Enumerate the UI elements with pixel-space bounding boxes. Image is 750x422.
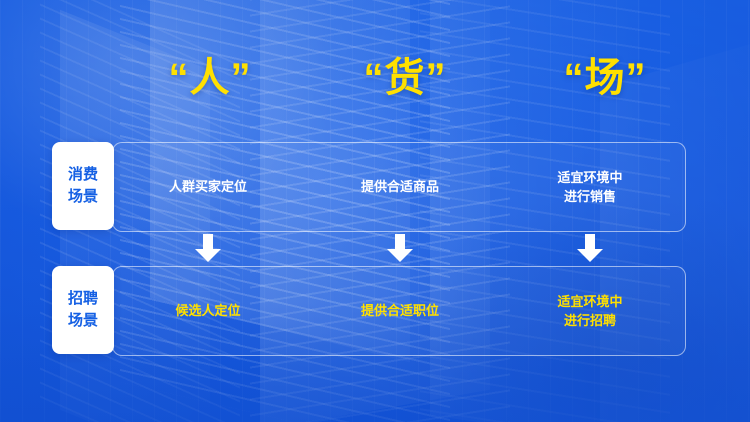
column-headings: “人” “货” “场” bbox=[0, 52, 750, 112]
cell-recruitment-chang: 适宜环境中 进行招聘 bbox=[500, 292, 680, 330]
heading-huo: “货” bbox=[325, 52, 485, 104]
row-tag-recruitment-line1: 招聘 bbox=[66, 288, 100, 310]
down-arrow-icon-chang bbox=[577, 234, 603, 262]
row-tag-recruitment: 招聘 场景 bbox=[52, 266, 114, 354]
down-arrow-icon-huo bbox=[387, 234, 413, 262]
cell-recruitment-chang-line1: 适宜环境中 bbox=[500, 292, 680, 311]
row-tag-consumption: 消费 场景 bbox=[52, 142, 114, 230]
arrow-head bbox=[195, 249, 221, 262]
row-tag-consumption-line2: 场景 bbox=[66, 186, 100, 208]
slide-canvas: “人” “货” “场” 消费 场景 招聘 场景 人群买家定位 提供合适商品 适宜… bbox=[0, 0, 750, 422]
cell-consumption-chang: 适宜环境中 进行销售 bbox=[500, 168, 680, 206]
arrow-head bbox=[387, 249, 413, 262]
cell-consumption-ren: 人群买家定位 bbox=[118, 177, 298, 196]
heading-ren: “人” bbox=[120, 52, 300, 104]
arrow-head bbox=[577, 249, 603, 262]
cell-consumption-chang-line1: 适宜环境中 bbox=[500, 168, 680, 187]
cell-consumption-chang-line2: 进行销售 bbox=[500, 187, 680, 206]
diagram-content: “人” “货” “场” 消费 场景 招聘 场景 人群买家定位 提供合适商品 适宜… bbox=[0, 0, 750, 422]
cell-recruitment-ren: 候选人定位 bbox=[118, 301, 298, 320]
heading-chang: “场” bbox=[520, 52, 690, 104]
cell-recruitment-huo: 提供合适职位 bbox=[310, 301, 490, 320]
arrow-shaft bbox=[203, 234, 213, 250]
cell-consumption-huo: 提供合适商品 bbox=[310, 177, 490, 196]
row-tag-recruitment-line2: 场景 bbox=[66, 310, 100, 332]
arrow-shaft bbox=[585, 234, 595, 250]
cell-recruitment-chang-line2: 进行招聘 bbox=[500, 311, 680, 330]
arrow-shaft bbox=[395, 234, 405, 250]
row-tag-consumption-line1: 消费 bbox=[66, 164, 100, 186]
down-arrow-icon-ren bbox=[195, 234, 221, 262]
